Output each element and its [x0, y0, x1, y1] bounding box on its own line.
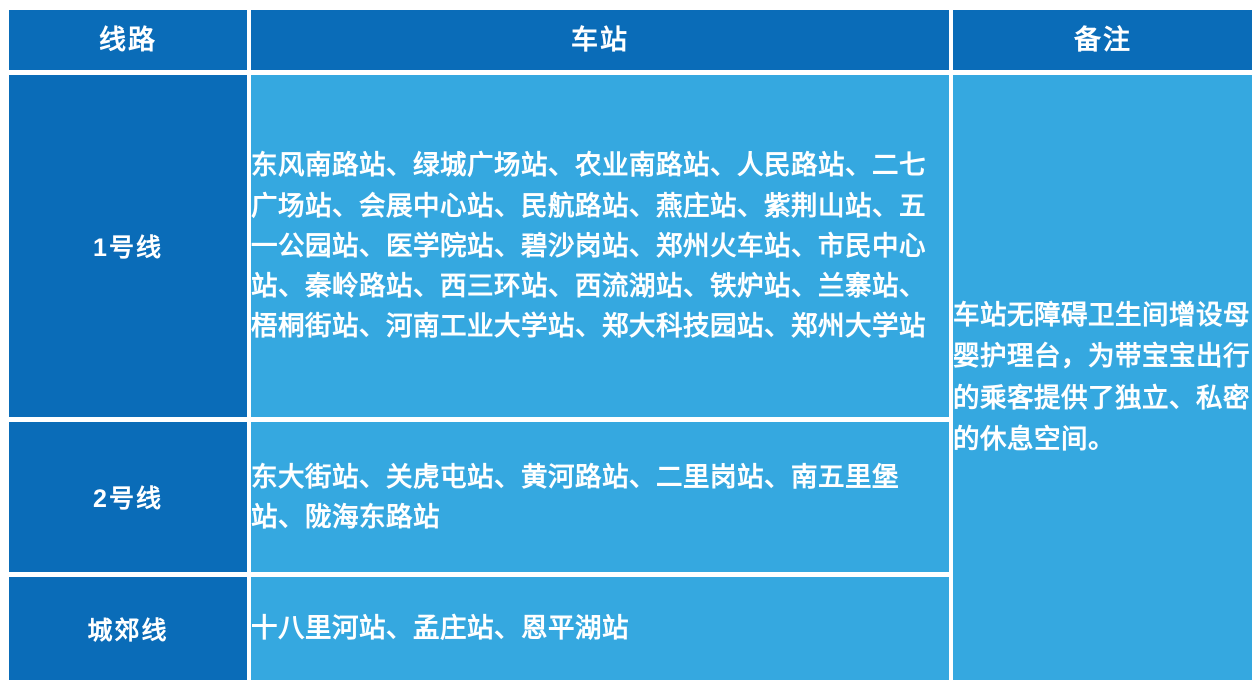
stations-cell: 东大街站、关虎屯站、黄河路站、二里岗站、南五里堡站、陇海东路站 [251, 422, 949, 572]
rail-station-table: 线路 车站 备注 1号线 东风南路站、绿城广场站、农业南路站、人民路站、二七广场… [5, 5, 1252, 685]
line-name-cell: 城郊线 [9, 577, 247, 680]
stations-text: 十八里河站、孟庄站、恩平湖站 [251, 608, 949, 648]
line-name-cell: 2号线 [9, 422, 247, 572]
table-body: 1号线 东风南路站、绿城广场站、农业南路站、人民路站、二七广场站、会展中心站、民… [9, 75, 1252, 680]
rail-station-table-container: 线路 车站 备注 1号线 东风南路站、绿城广场站、农业南路站、人民路站、二七广场… [0, 0, 1252, 673]
stations-text: 东风南路站、绿城广场站、农业南路站、人民路站、二七广场站、会展中心站、民航路站、… [251, 145, 949, 346]
column-header-stations: 车站 [251, 10, 949, 70]
stations-text: 东大街站、关虎屯站、黄河路站、二里岗站、南五里堡站、陇海东路站 [251, 457, 949, 538]
column-header-note: 备注 [953, 10, 1252, 70]
note-text: 车站无障碍卫生间增设母婴护理台，为带宝宝出行的乘客提供了独立、私密的休息空间。 [953, 300, 1250, 453]
table-header: 线路 车站 备注 [9, 10, 1252, 70]
column-header-line: 线路 [9, 10, 247, 70]
note-cell: 车站无障碍卫生间增设母婴护理台，为带宝宝出行的乘客提供了独立、私密的休息空间。 [953, 75, 1252, 680]
stations-cell: 东风南路站、绿城广场站、农业南路站、人民路站、二七广场站、会展中心站、民航路站、… [251, 75, 949, 417]
table-row: 1号线 东风南路站、绿城广场站、农业南路站、人民路站、二七广场站、会展中心站、民… [9, 75, 1252, 417]
stations-cell: 十八里河站、孟庄站、恩平湖站 [251, 577, 949, 680]
line-name-cell: 1号线 [9, 75, 247, 417]
header-row: 线路 车站 备注 [9, 10, 1252, 70]
